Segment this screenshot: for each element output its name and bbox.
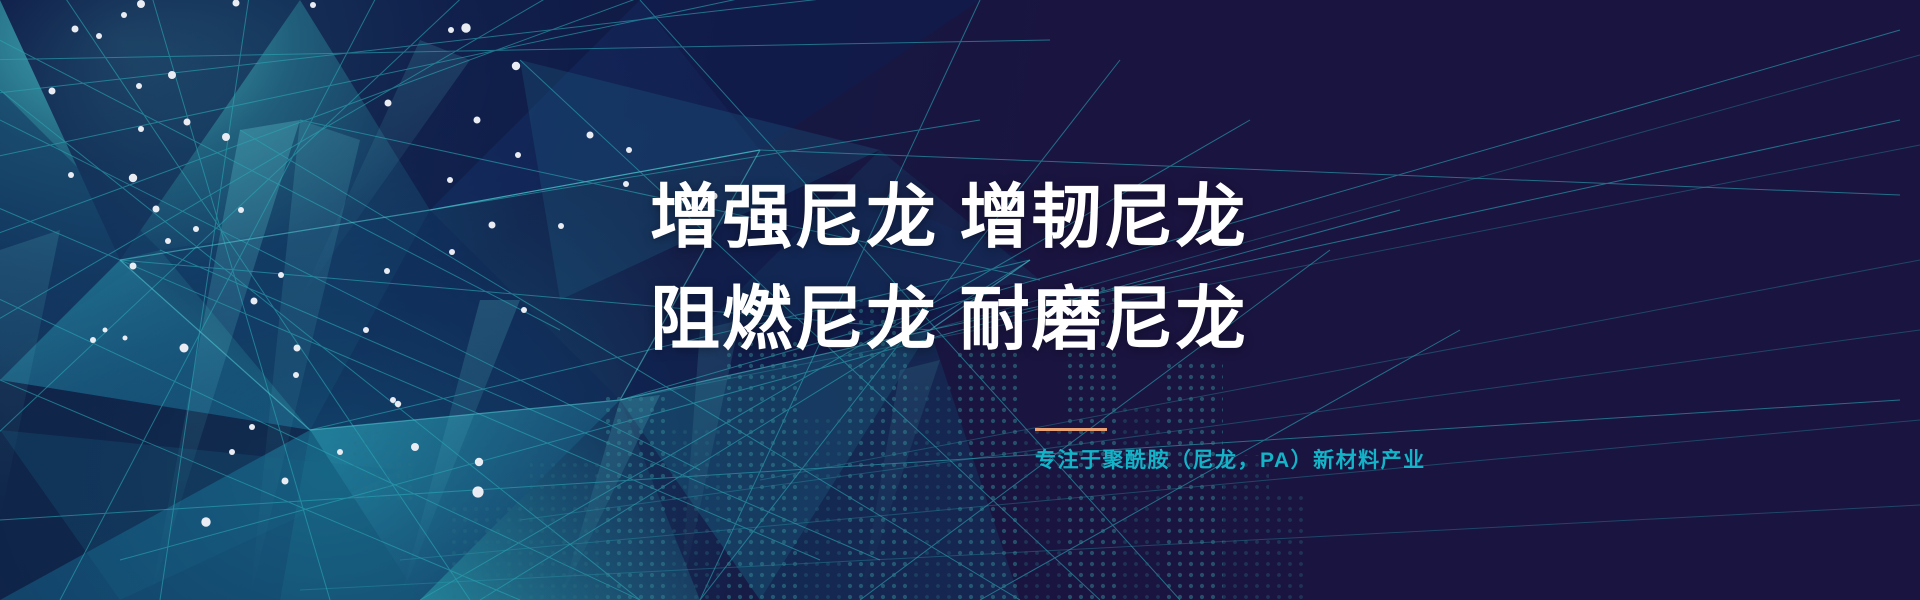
headline-line-2: 阻燃尼龙 耐磨尼龙	[650, 284, 1247, 354]
headline-line-1: 增强尼龙 增韧尼龙	[650, 182, 1247, 252]
banner-content: 增强尼龙 增韧尼龙 阻燃尼龙 耐磨尼龙 专注于聚酰胺（尼龙，PA）新材料产业	[650, 0, 1850, 600]
subtitle-text: 专注于聚酰胺（尼龙，PA）新材料产业	[1035, 450, 1426, 471]
subtitle-block: 专注于聚酰胺（尼龙，PA）新材料产业	[1035, 428, 1426, 471]
hero-banner: 增强尼龙 增韧尼龙 阻燃尼龙 耐磨尼龙 专注于聚酰胺（尼龙，PA）新材料产业	[0, 0, 1920, 600]
subtitle-divider-rule	[1035, 428, 1107, 431]
